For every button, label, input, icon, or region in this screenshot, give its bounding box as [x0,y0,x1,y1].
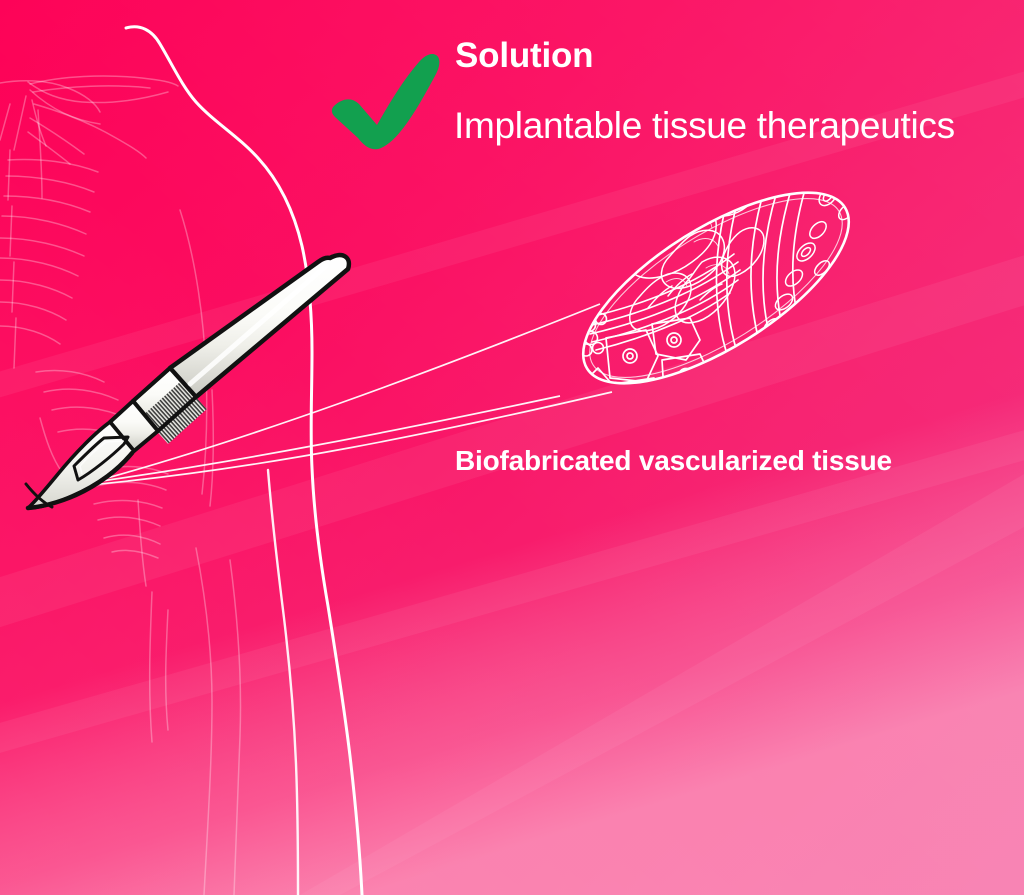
page-subtitle: Implantable tissue therapeutics [454,107,955,144]
page-title: Solution [455,38,593,73]
tissue-callout-label: Biofabricated vascularized tissue [455,447,892,475]
solution-slide: Solution Implantable tissue therapeutics… [0,0,1024,895]
